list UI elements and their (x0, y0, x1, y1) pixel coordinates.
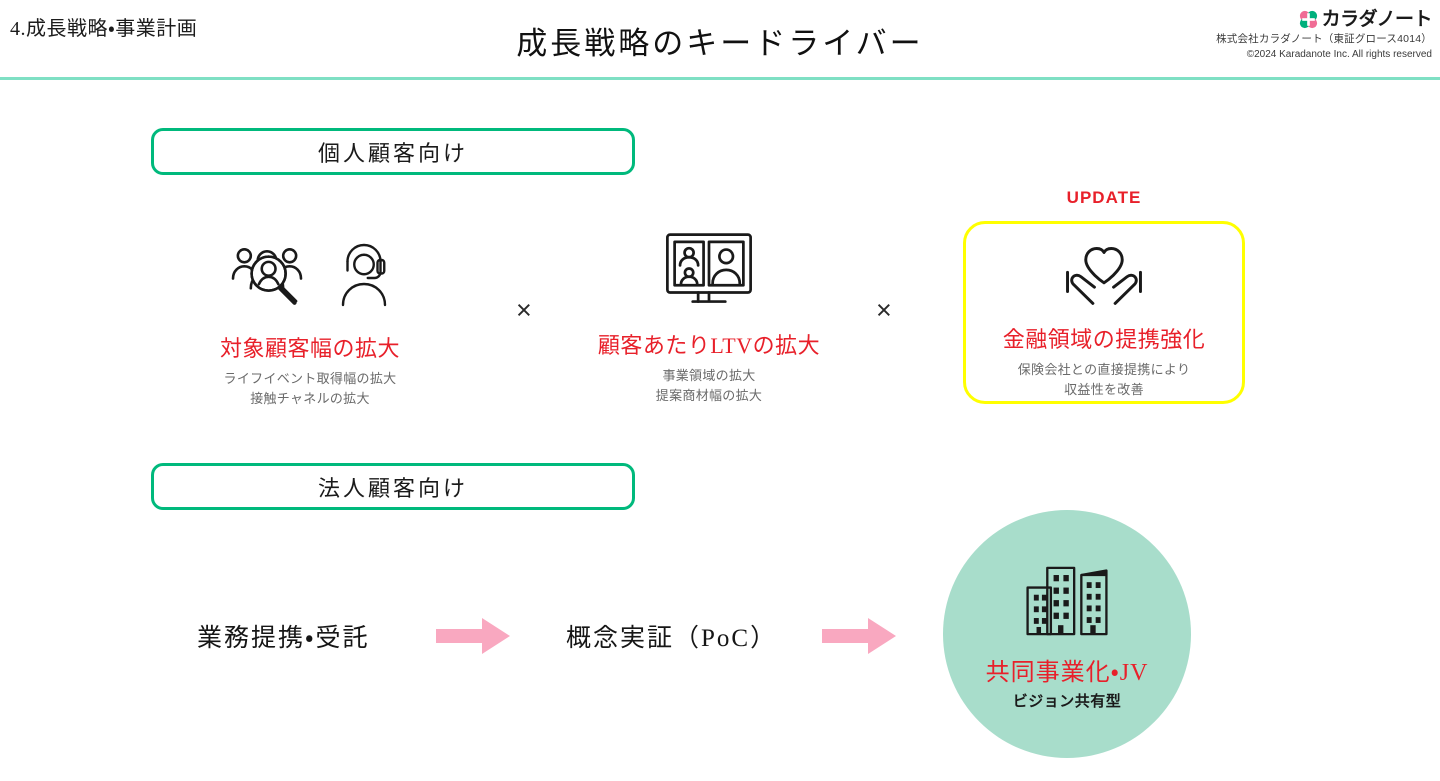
driver-icon-group (569, 228, 849, 310)
logo-wordmark: カラダノート (1322, 10, 1432, 29)
brand-logo-block: カラダノート 株式会社カラダノート（東証グロース4014） ©2024 Kara… (1216, 8, 1432, 62)
driver-title: 対象顧客幅の拡大 (170, 331, 450, 363)
driver-subtext-line2: 収益性を改善 (966, 380, 1242, 400)
driver-subtext-line1: 保険会社との直接提携により (966, 360, 1242, 380)
driver-card-finance-partnership: UPDATE 金融領域の提携強化 保険会社との直接 (963, 186, 1245, 404)
flow-step-alliance: 業務提携・受託 (197, 618, 370, 654)
city-buildings-icon (1024, 564, 1110, 638)
slide-header: 4.成長戦略・事業計画 成長戦略のキードライバー カラダノート 株式会社カラダノ… (0, 0, 1440, 79)
multiply-separator-icon: × (516, 297, 532, 324)
section-pill-corporate: 法人顧客向け (151, 463, 635, 510)
heart-in-hands-icon (1058, 242, 1150, 308)
driver-subtext-line1: ライフイベント取得幅の拡大 (170, 369, 450, 389)
driver-title: 顧客あたりLTVの拡大 (569, 328, 849, 360)
corporate-flow-row: 業務提携・受託 概念実証（PoC） (0, 505, 1440, 750)
driver-subtext: ライフイベント取得幅の拡大 接触チャネルの拡大 (170, 369, 450, 408)
update-highlight-box: 金融領域の提携強化 保険会社との直接提携により 収益性を改善 (963, 221, 1245, 404)
person-search-icon (226, 238, 308, 306)
drivers-row: 対象顧客幅の拡大 ライフイベント取得幅の拡大 接触チャネルの拡大 (0, 186, 1440, 426)
copyright-notice: ©2024 Karadanote Inc. All rights reserve… (1216, 48, 1432, 62)
driver-subtext: 事業領域の拡大 提案商材幅の拡大 (569, 366, 849, 405)
clover-logo-icon (1298, 9, 1319, 30)
update-badge: UPDATE (963, 186, 1245, 210)
arrow-right-icon (822, 616, 896, 656)
video-conference-monitor-icon (661, 231, 757, 307)
driver-title: 金融領域の提携強化 (966, 322, 1242, 354)
driver-subtext-line2: 提案商材幅の拡大 (569, 386, 849, 406)
driver-subtext-line1: 事業領域の拡大 (569, 366, 849, 386)
company-legal-name: 株式会社カラダノート（東証グロース4014） (1216, 32, 1432, 46)
logo-row: カラダノート (1216, 8, 1432, 30)
driver-subtext-line2: 接触チャネルの拡大 (170, 389, 450, 409)
driver-card-target-customer: 対象顧客幅の拡大 ライフイベント取得幅の拡大 接触チャネルの拡大 (170, 231, 450, 408)
slide-canvas: 4.成長戦略・事業計画 成長戦略のキードライバー カラダノート 株式会社カラダノ… (0, 0, 1440, 781)
section-pill-personal: 個人顧客向け (151, 128, 635, 175)
arrow-right-icon (436, 616, 510, 656)
driver-subtext: 保険会社との直接提携により 収益性を改善 (966, 360, 1242, 399)
flow-step-poc: 概念実証（PoC） (566, 618, 777, 654)
flow-result-title: 共同事業化・JV (986, 652, 1149, 687)
driver-icon-group (966, 242, 1242, 308)
driver-icon-group (170, 231, 450, 313)
driver-card-ltv: 顧客あたりLTVの拡大 事業領域の拡大 提案商材幅の拡大 (569, 228, 849, 405)
multiply-separator-icon: × (876, 297, 892, 324)
flow-result-subtitle: ビジョン共有型 (1013, 690, 1122, 711)
flow-result-circle: 共同事業化・JV ビジョン共有型 (943, 510, 1191, 758)
header-divider (0, 77, 1440, 80)
headset-agent-icon (334, 237, 394, 307)
